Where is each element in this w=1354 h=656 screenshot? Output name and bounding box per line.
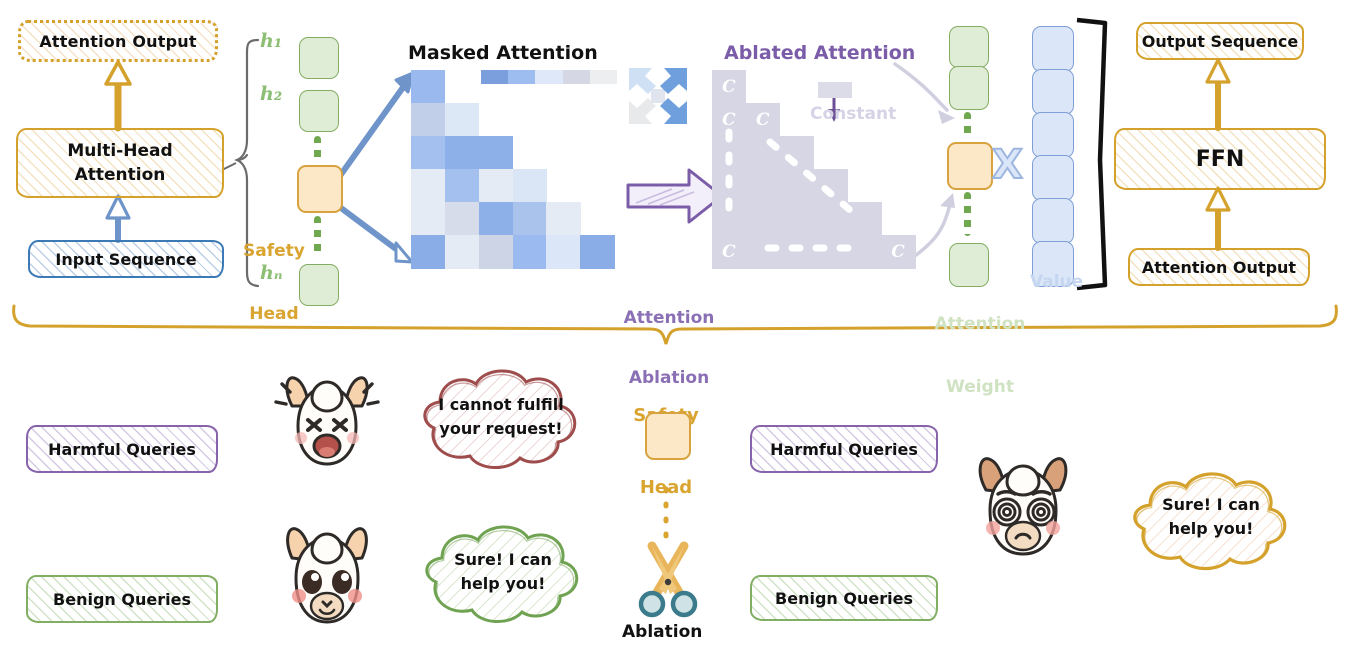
refusal-bubble-line2: your request!	[439, 417, 562, 441]
head-cell-h1	[299, 37, 339, 79]
masked-attention-title: Masked Attention	[408, 42, 598, 64]
safety-head-label-line2: Head	[243, 304, 305, 325]
matrix-closing-bracket	[1077, 20, 1105, 288]
refusal-bubble: I cannot fulfill your request!	[400, 362, 600, 474]
output-sequence-label: Output Sequence	[1142, 32, 1299, 51]
input-sequence-box: Input Sequence	[28, 240, 224, 278]
converge-arrows-icon	[629, 68, 687, 124]
masked-attention-cell	[411, 70, 445, 104]
safety-head-label: Safety Head	[243, 199, 305, 346]
multiply-symbol: X	[992, 142, 1023, 188]
harmful-queries-label-left: Harmful Queries	[48, 440, 196, 459]
masked-attention-cell	[479, 169, 513, 203]
benign-queries-box-right: Benign Queries	[750, 575, 938, 621]
masked-attention-cell	[513, 169, 547, 203]
ffn-label: FFN	[1196, 147, 1244, 172]
masked-attention-cell	[411, 136, 445, 170]
colorbar-swatch	[481, 70, 509, 84]
attention-weight-label: Attention Weight	[930, 272, 1030, 419]
masked-attention-cell	[513, 202, 547, 236]
value-cell	[1032, 69, 1074, 115]
ablated-matrix-dashes	[712, 70, 915, 268]
value-cell	[1032, 112, 1074, 158]
arrow-safety-head-to-matrix-top	[337, 73, 413, 180]
masked-attention-cell	[445, 136, 479, 170]
arrow-mha-to-attention-output	[106, 62, 130, 128]
head-cell-h2	[299, 90, 339, 132]
benign-queries-label-right: Benign Queries	[775, 589, 913, 608]
head-label-h2: h₂	[260, 83, 282, 105]
head-dots-upper	[314, 136, 321, 162]
attention-output-top-box: Attention Output	[18, 20, 218, 62]
safety-head-label-line1: Safety	[243, 241, 305, 262]
attention-ablation-line1: Attention	[609, 308, 729, 328]
harmful-queries-label-right: Harmful Queries	[770, 440, 918, 459]
helpful-bubble-line2: help you!	[461, 572, 546, 596]
attention-output-bottom-label: Attention Output	[1142, 258, 1296, 277]
harmful-queries-box-left: Harmful Queries	[26, 425, 218, 473]
llama-angry-icon	[268, 368, 386, 478]
colorbar-swatch	[535, 70, 563, 84]
attention-weight-dots-lower	[964, 192, 971, 236]
ablation-label: Ablation	[622, 622, 702, 642]
masked-attention-cell	[479, 136, 513, 170]
masked-attention-cell	[411, 235, 445, 269]
head-label-h1: h₁	[260, 30, 282, 52]
masked-attention-cell	[546, 202, 580, 236]
colorbar-swatch	[508, 70, 536, 84]
jailbroken-bubble: Sure! I can help you!	[1112, 465, 1308, 575]
attention-weight-dots-upper	[964, 112, 971, 138]
jailbroken-bubble-line2: help you!	[1169, 517, 1254, 541]
jailbroken-bubble-line1: Sure! I can	[1162, 493, 1260, 517]
mha-label-line1: Multi-Head	[67, 139, 172, 163]
multi-head-attention-box: Multi-Head Attention	[16, 128, 224, 198]
colorbar-swatch	[590, 70, 618, 84]
input-sequence-label: Input Sequence	[55, 250, 196, 269]
arrow-ffn-to-output	[1207, 60, 1229, 128]
llama-happy-icon	[268, 520, 386, 638]
masked-attention-cell	[411, 103, 445, 137]
mha-label-line2: Attention	[75, 163, 166, 187]
attention-output-bottom-box: Attention Output	[1128, 248, 1310, 286]
attention-weight-cell-2	[949, 66, 989, 110]
value-cell	[1032, 155, 1074, 201]
ablated-attention-title: Ablated Attention	[724, 42, 915, 64]
output-sequence-box: Output Sequence	[1136, 22, 1304, 60]
value-label: Value	[1030, 272, 1083, 293]
colorbar-swatch	[563, 70, 591, 84]
masked-attention-cell	[580, 235, 614, 269]
arrow-attnout-to-ffn	[1207, 188, 1229, 248]
masked-attention-cell	[445, 103, 479, 137]
masked-attention-cell	[546, 235, 580, 269]
helpful-bubble: Sure! I can help you!	[404, 518, 600, 628]
attention-weight-line2: Weight	[930, 377, 1030, 398]
masked-attention-cell	[445, 202, 479, 236]
head-cell-hn	[299, 264, 339, 306]
harmful-queries-box-right: Harmful Queries	[750, 425, 938, 473]
attention-ablation-arrow	[628, 170, 722, 222]
scissors-icon[interactable]	[630, 540, 706, 618]
masked-attention-cell	[479, 202, 513, 236]
mha-to-brace-link	[222, 163, 236, 170]
benign-queries-label-left: Benign Queries	[53, 590, 191, 609]
masked-attention-cell	[479, 235, 513, 269]
attention-colorbar	[481, 70, 617, 84]
ffn-box: FFN	[1114, 128, 1326, 190]
bottom-safety-head-line2: Head	[630, 476, 702, 500]
ablated-attention-heatmap: CCCCC	[712, 70, 915, 268]
attention-weight-safety-cell[interactable]	[947, 142, 993, 190]
value-cell	[1032, 26, 1074, 72]
masked-attention-cell	[411, 202, 445, 236]
benign-queries-box-left: Benign Queries	[26, 575, 218, 623]
arrow-input-to-mha	[107, 196, 129, 240]
refusal-bubble-line1: I cannot fulfill	[438, 393, 563, 417]
arrow-safety-head-to-matrix-bottom	[337, 205, 412, 262]
head-dots-lower	[314, 216, 321, 258]
value-column	[1032, 26, 1072, 286]
attention-output-top-label: Attention Output	[39, 32, 196, 51]
bottom-safety-head-cell[interactable]	[645, 412, 691, 460]
attention-weight-line1: Attention	[930, 314, 1030, 335]
attention-weight-cell-1	[949, 26, 989, 68]
masked-attention-cell	[445, 169, 479, 203]
masked-attention-cell	[513, 235, 547, 269]
value-cell	[1032, 198, 1074, 244]
llama-dizzy-icon	[960, 450, 1086, 566]
constant-label: Constant	[810, 104, 896, 124]
helpful-bubble-line1: Sure! I can	[454, 548, 552, 572]
masked-attention-cell	[411, 169, 445, 203]
masked-attention-heatmap	[411, 70, 614, 268]
masked-attention-cell	[445, 235, 479, 269]
